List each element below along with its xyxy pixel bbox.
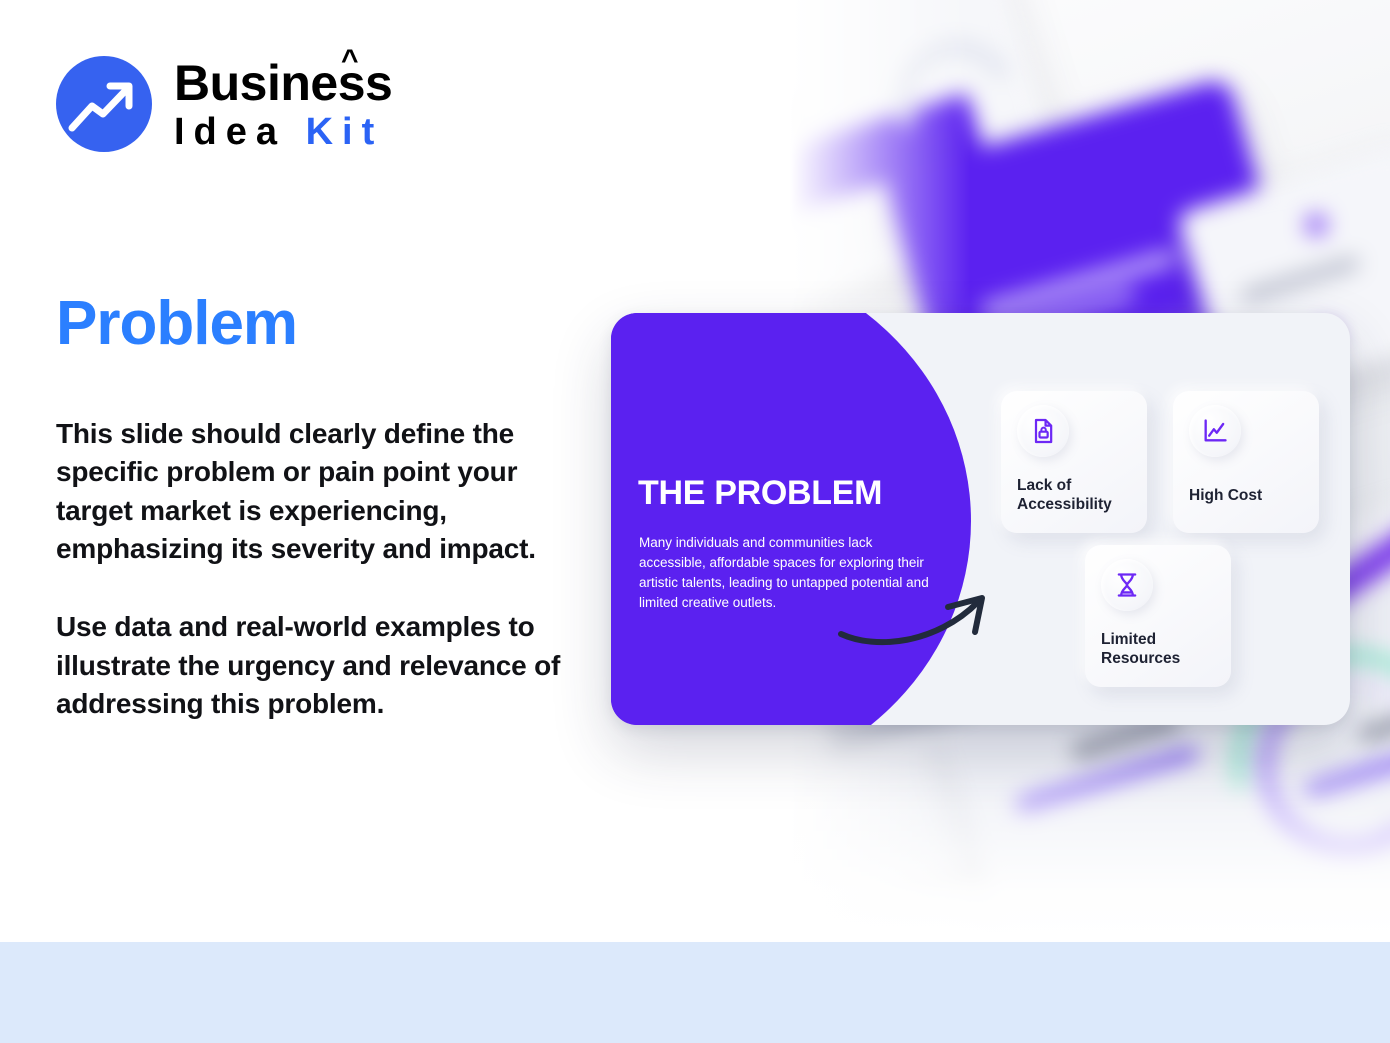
circumflex-accent-icon: ^ (341, 46, 358, 76)
feature-card-title: High Cost (1189, 487, 1262, 506)
brand-logo-line1: Business ^ (174, 58, 392, 108)
brand-logo-line2: Idea Kit (174, 113, 392, 151)
slide-purple-circle (611, 313, 971, 725)
feature-card-limited-resources[interactable]: Limited Resources (1085, 545, 1231, 687)
brand-logo[interactable]: Business ^ Idea Kit (56, 56, 392, 152)
brand-logo-idea: Idea (174, 111, 286, 153)
slide-preview-card[interactable]: THE PROBLEM Many individuals and communi… (611, 313, 1350, 725)
document-lock-icon (1017, 405, 1069, 457)
body-copy: This slide should clearly define the spe… (56, 415, 566, 724)
brand-logo-text: Business ^ Idea Kit (174, 58, 392, 151)
page-title: Problem (56, 293, 297, 355)
slide-heading: THE PROBLEM (638, 476, 882, 510)
feature-card-lack-of-accessibility[interactable]: Lack of Accessibility (1001, 391, 1147, 533)
slide-page: Business ^ Idea Kit Problem This slide s… (0, 0, 1390, 1043)
body-paragraph-2: Use data and real-world examples to illu… (56, 608, 566, 723)
feature-card-title: Lack of Accessibility (1017, 477, 1147, 515)
mockup-purple-pill (1014, 745, 1200, 815)
line-chart-icon (1189, 405, 1241, 457)
growth-arrow-chart-icon (56, 56, 152, 152)
brand-logo-kit: Kit (306, 111, 384, 153)
hourglass-icon (1101, 559, 1153, 611)
bottom-color-band (0, 942, 1390, 1043)
curved-arrow-icon (836, 588, 1006, 648)
feature-card-high-cost[interactable]: High Cost (1173, 391, 1319, 533)
mockup-line (1241, 256, 1360, 304)
body-paragraph-1: This slide should clearly define the spe… (56, 415, 566, 568)
brand-logo-business: Business (174, 55, 392, 111)
mockup-dot (1302, 211, 1329, 238)
feature-card-title: Limited Resources (1101, 631, 1231, 669)
